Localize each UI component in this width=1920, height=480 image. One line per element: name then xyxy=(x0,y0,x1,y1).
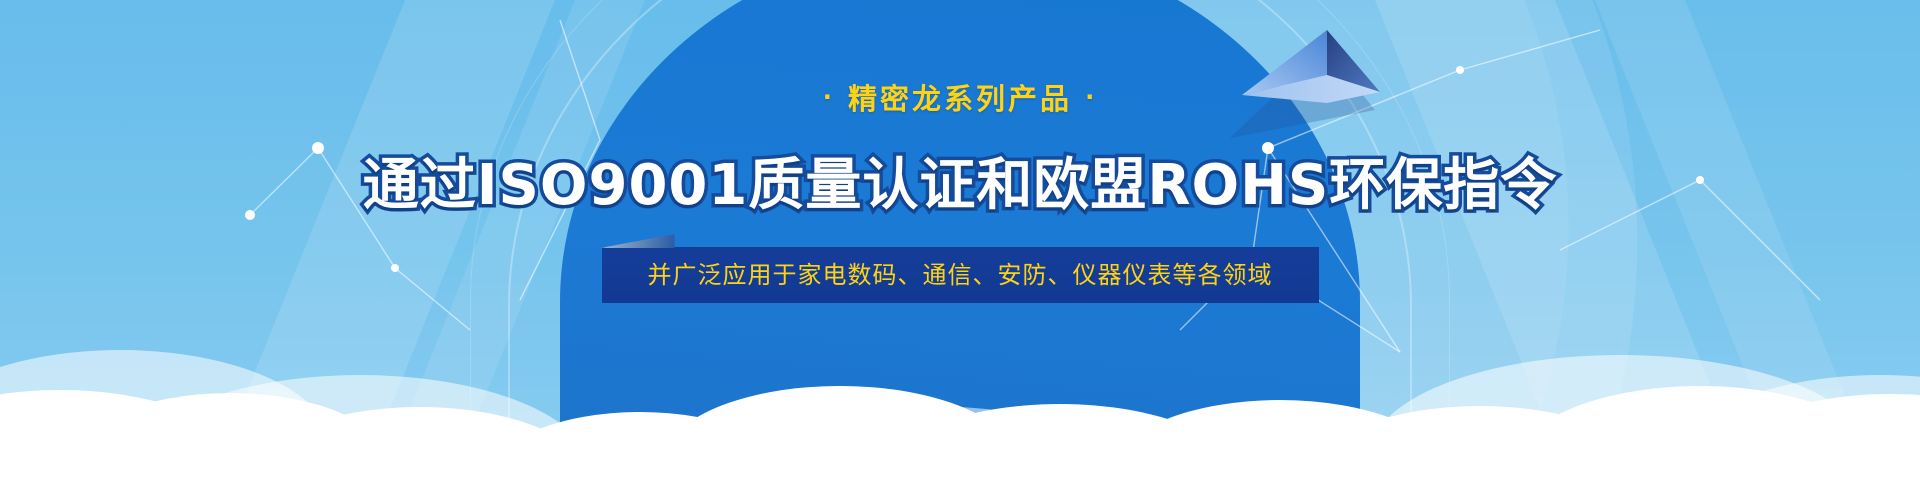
ribbon-fold-decoration xyxy=(601,234,675,248)
eyebrow-text: · 精密龙系列产品 · xyxy=(0,76,1920,118)
ribbon-label: 并广泛应用于家电数码、通信、安防、仪器仪表等各领域 xyxy=(648,261,1273,289)
banner-content: · 精密龙系列产品 · 通过ISO9001质量认证和欧盟ROHS环保指令 并广泛… xyxy=(0,0,1920,303)
eyebrow-label: 精密龙系列产品 xyxy=(848,82,1072,116)
ribbon-banner: 并广泛应用于家电数码、通信、安防、仪器仪表等各领域 xyxy=(602,247,1319,303)
headline-text: 通过ISO9001质量认证和欧盟ROHS环保指令 xyxy=(0,140,1920,221)
eyebrow-right-dot: · xyxy=(1085,83,1097,111)
promo-banner: · 精密龙系列产品 · 通过ISO9001质量认证和欧盟ROHS环保指令 并广泛… xyxy=(0,0,1920,480)
eyebrow-left-dot: · xyxy=(823,83,835,111)
ribbon-container: 并广泛应用于家电数码、通信、安防、仪器仪表等各领域 xyxy=(0,247,1920,303)
